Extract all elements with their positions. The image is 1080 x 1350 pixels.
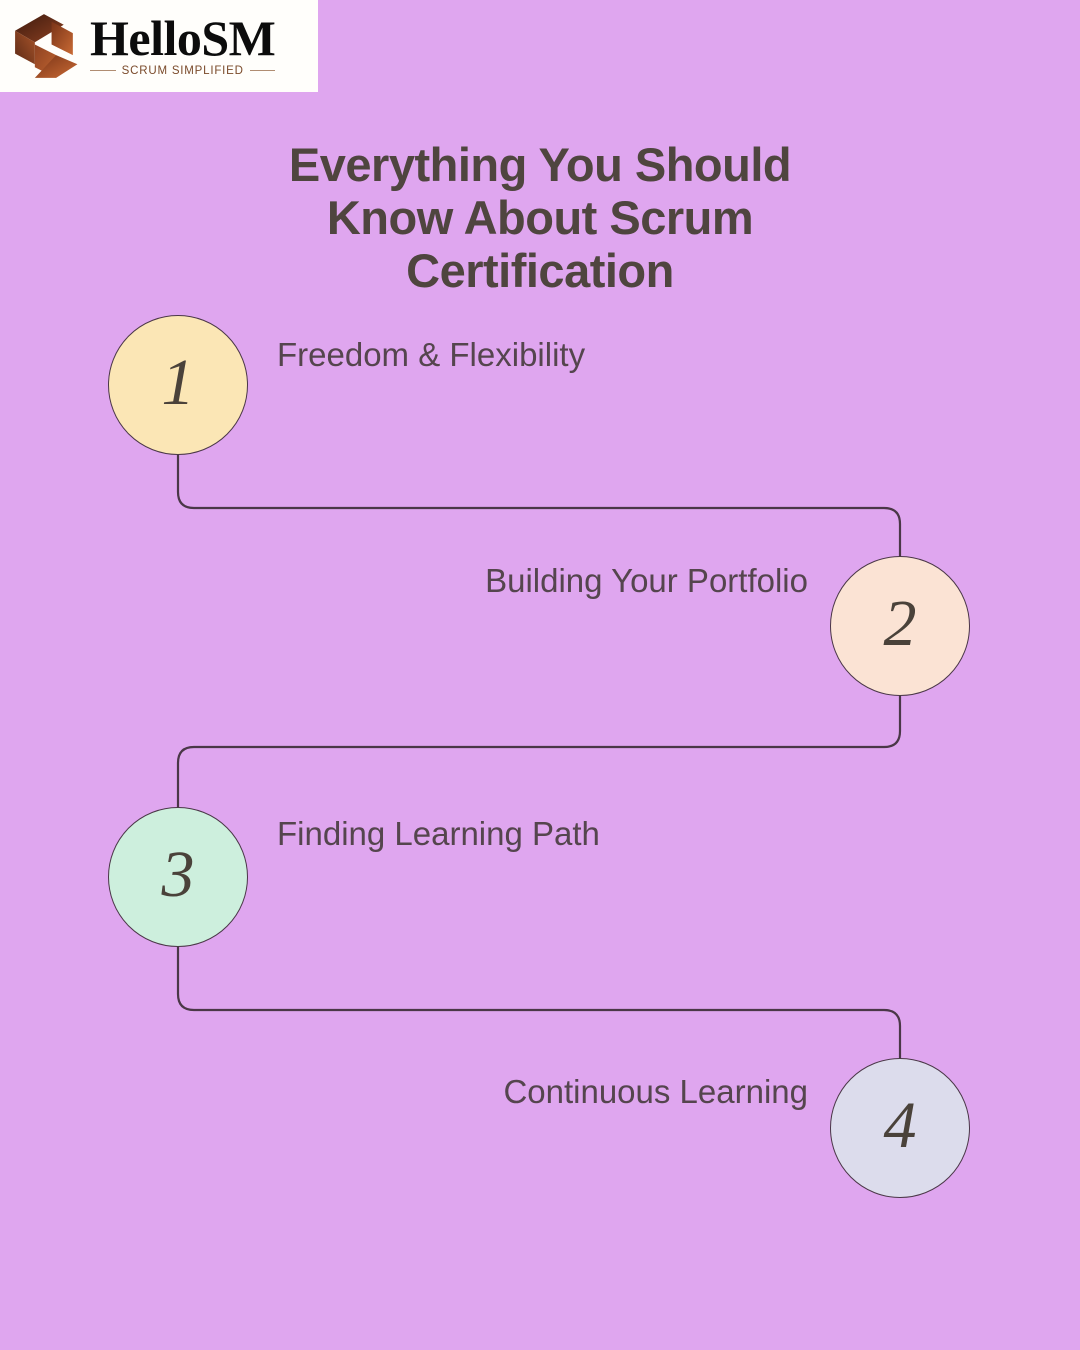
step-circle-3[interactable]: 3 — [108, 807, 248, 947]
connector-1-to-2 — [178, 455, 900, 556]
step-number-2: 2 — [884, 591, 917, 657]
step-label-4: Continuous Learning — [503, 1073, 808, 1111]
tagline-rule-left — [90, 70, 116, 71]
step-circle-4[interactable]: 4 — [830, 1058, 970, 1198]
logo-tagline: SCRUM SIMPLIFIED — [122, 65, 244, 77]
page-title: Everything You Should Know About Scrum C… — [0, 139, 1080, 297]
brand-logo: HelloSM SCRUM SIMPLIFIED — [0, 0, 318, 92]
connector-2-to-3 — [178, 696, 900, 807]
logo-tagline-row: SCRUM SIMPLIFIED — [90, 65, 275, 77]
connector-3-to-4 — [178, 947, 900, 1058]
step-number-1: 1 — [162, 350, 195, 416]
step-label-2: Building Your Portfolio — [485, 562, 808, 600]
hexagonal-s-logo-icon — [8, 8, 86, 84]
logo-text-block: HelloSM SCRUM SIMPLIFIED — [90, 15, 275, 77]
step-number-3: 3 — [162, 842, 195, 908]
step-label-1: Freedom & Flexibility — [277, 336, 585, 374]
tagline-rule-right — [250, 70, 276, 71]
step-label-3: Finding Learning Path — [277, 815, 600, 853]
step-circle-2[interactable]: 2 — [830, 556, 970, 696]
step-number-4: 4 — [884, 1093, 917, 1159]
step-circle-1[interactable]: 1 — [108, 315, 248, 455]
logo-wordmark: HelloSM — [90, 15, 275, 63]
